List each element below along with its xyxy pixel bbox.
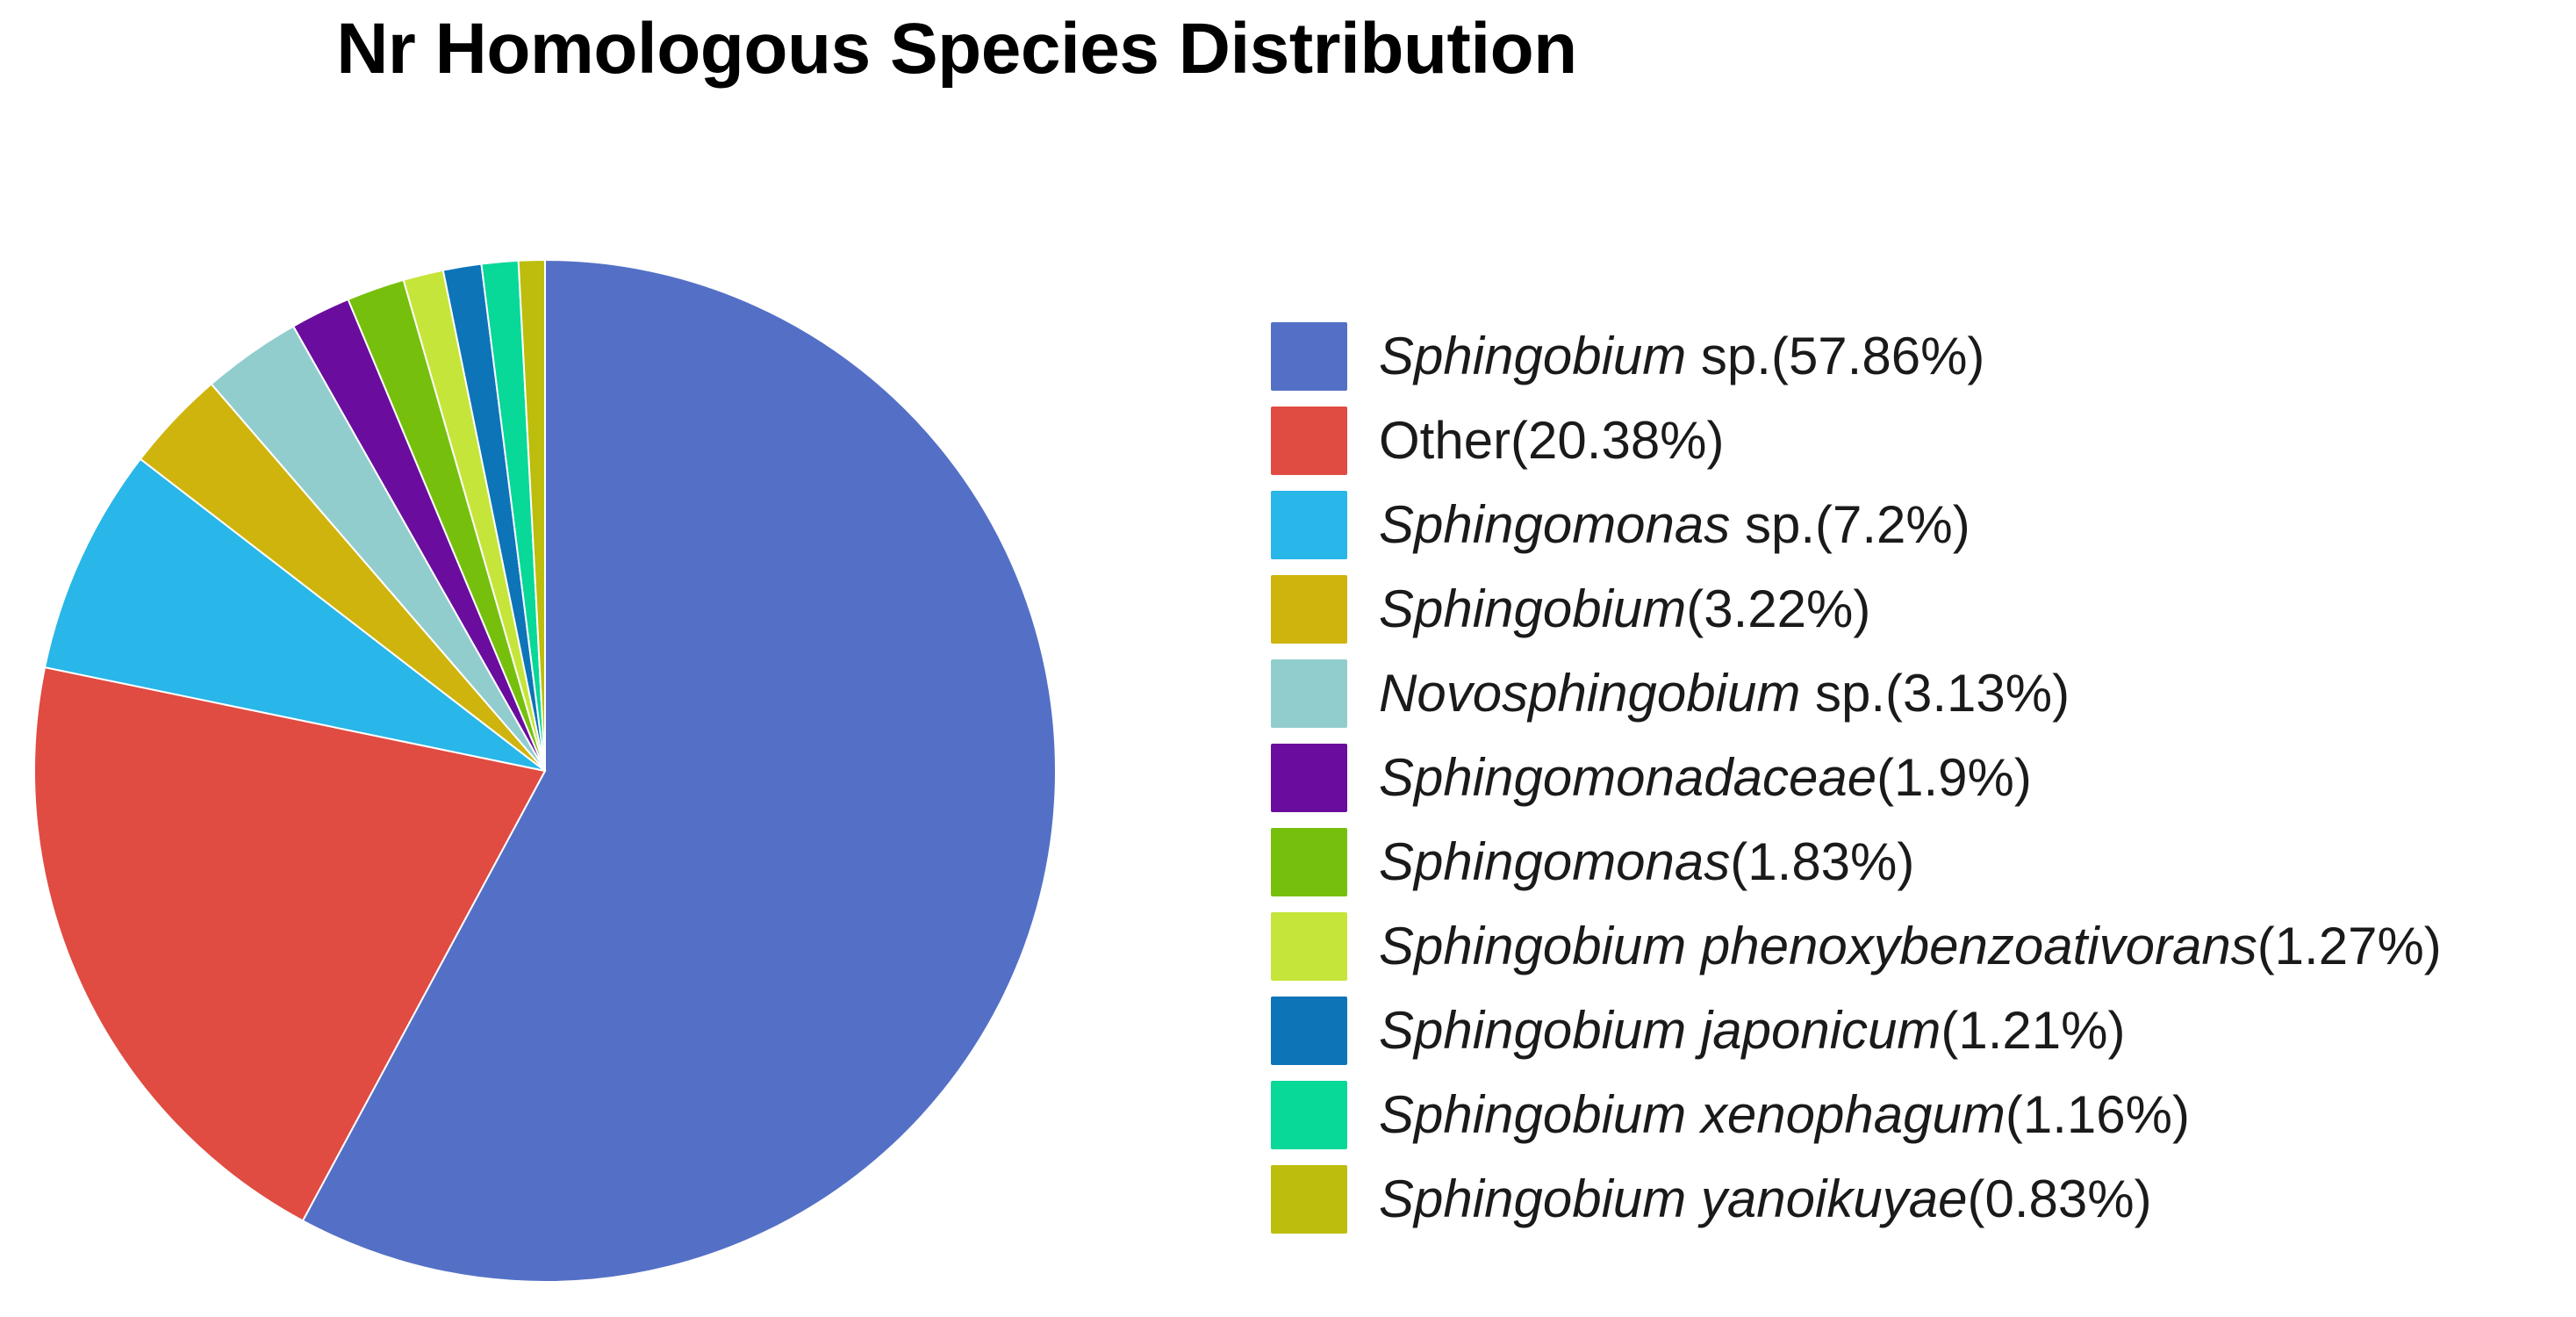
legend-color-swatch [1271, 1081, 1347, 1149]
pie-chart [0, 219, 1141, 1317]
legend-species-name: Sphingobium [1379, 579, 1686, 638]
legend-color-swatch [1271, 322, 1347, 391]
legend-percent-suffix: (1.83%) [1730, 832, 1914, 891]
legend-species-name: Sphingobium yanoikuyae [1379, 1169, 1967, 1228]
legend-item-label: Sphingomonadaceae(1.9%) [1379, 747, 2032, 809]
legend-species-name: Sphingomonas [1379, 495, 1730, 554]
legend-item[interactable]: Novosphingobium sp.(3.13%) [1271, 651, 2552, 736]
legend-color-swatch [1271, 997, 1347, 1065]
legend-color-swatch [1271, 659, 1347, 728]
legend-item-label: Sphingobium sp.(57.86%) [1379, 326, 1984, 387]
legend-percent-suffix: sp.(3.13%) [1800, 664, 2070, 723]
legend: Sphingobium sp.(57.86%)Other(20.38%)Sphi… [1271, 314, 2552, 1241]
legend-species-name: Sphingobium japonicum [1379, 1001, 1941, 1060]
legend-percent-suffix: sp.(57.86%) [1686, 327, 1984, 385]
legend-color-swatch [1271, 912, 1347, 981]
legend-item-label: Other(20.38%) [1379, 410, 1725, 471]
legend-percent-suffix: (1.9%) [1876, 748, 2032, 807]
legend-item[interactable]: Sphingomonas(1.83%) [1271, 820, 2552, 904]
legend-item-label: Novosphingobium sp.(3.13%) [1379, 663, 2070, 724]
legend-species-name: Sphingomonadaceae [1379, 748, 1876, 807]
legend-species-name: Sphingobium xenophagum [1379, 1085, 2006, 1144]
legend-item[interactable]: Other(20.38%) [1271, 399, 2552, 483]
legend-percent-suffix: (1.16%) [2006, 1085, 2190, 1144]
legend-item[interactable]: Sphingomonas sp.(7.2%) [1271, 483, 2552, 567]
legend-percent-suffix: (0.83%) [1967, 1169, 2151, 1228]
legend-species-name: Sphingobium phenoxybenzoativorans [1379, 917, 2257, 975]
legend-percent-suffix: (1.27%) [2257, 917, 2442, 975]
legend-item[interactable]: Sphingomonadaceae(1.9%) [1271, 736, 2552, 820]
legend-species-name: Novosphingobium [1379, 664, 1800, 723]
legend-item-label: Sphingobium phenoxybenzoativorans(1.27%) [1379, 916, 2442, 977]
legend-item[interactable]: Sphingobium(3.22%) [1271, 567, 2552, 651]
legend-item[interactable]: Sphingobium sp.(57.86%) [1271, 314, 2552, 399]
legend-percent-suffix: (1.21%) [1941, 1001, 2125, 1060]
legend-item[interactable]: Sphingobium phenoxybenzoativorans(1.27%) [1271, 904, 2552, 989]
legend-species-name: Sphingobium [1379, 327, 1686, 385]
legend-item-label: Sphingobium yanoikuyae(0.83%) [1379, 1169, 2152, 1230]
legend-item-label: Sphingobium(3.22%) [1379, 579, 1870, 640]
legend-item[interactable]: Sphingobium xenophagum(1.16%) [1271, 1073, 2552, 1157]
legend-item-label: Sphingobium xenophagum(1.16%) [1379, 1084, 2190, 1146]
pie-slice-group [34, 260, 1056, 1282]
legend-item-label: Sphingomonas(1.83%) [1379, 831, 1914, 893]
legend-color-swatch [1271, 407, 1347, 475]
page-title: Nr Homologous Species Distribution [0, 7, 1913, 91]
legend-color-swatch [1271, 1165, 1347, 1234]
legend-item[interactable]: Sphingobium japonicum(1.21%) [1271, 989, 2552, 1073]
legend-color-swatch [1271, 575, 1347, 644]
legend-percent-suffix: (3.22%) [1686, 579, 1870, 638]
legend-species-name: Sphingomonas [1379, 832, 1730, 891]
legend-color-swatch [1271, 828, 1347, 896]
pie-chart-svg [0, 219, 1141, 1317]
legend-item-label: Sphingomonas sp.(7.2%) [1379, 494, 1970, 556]
legend-item-label: Sphingobium japonicum(1.21%) [1379, 1000, 2126, 1062]
chart-page: Nr Homologous Species Distribution Sphin… [0, 0, 2576, 1316]
legend-color-swatch [1271, 744, 1347, 812]
legend-item[interactable]: Sphingobium yanoikuyae(0.83%) [1271, 1157, 2552, 1241]
legend-color-swatch [1271, 491, 1347, 559]
legend-percent-suffix: sp.(7.2%) [1730, 495, 1970, 554]
